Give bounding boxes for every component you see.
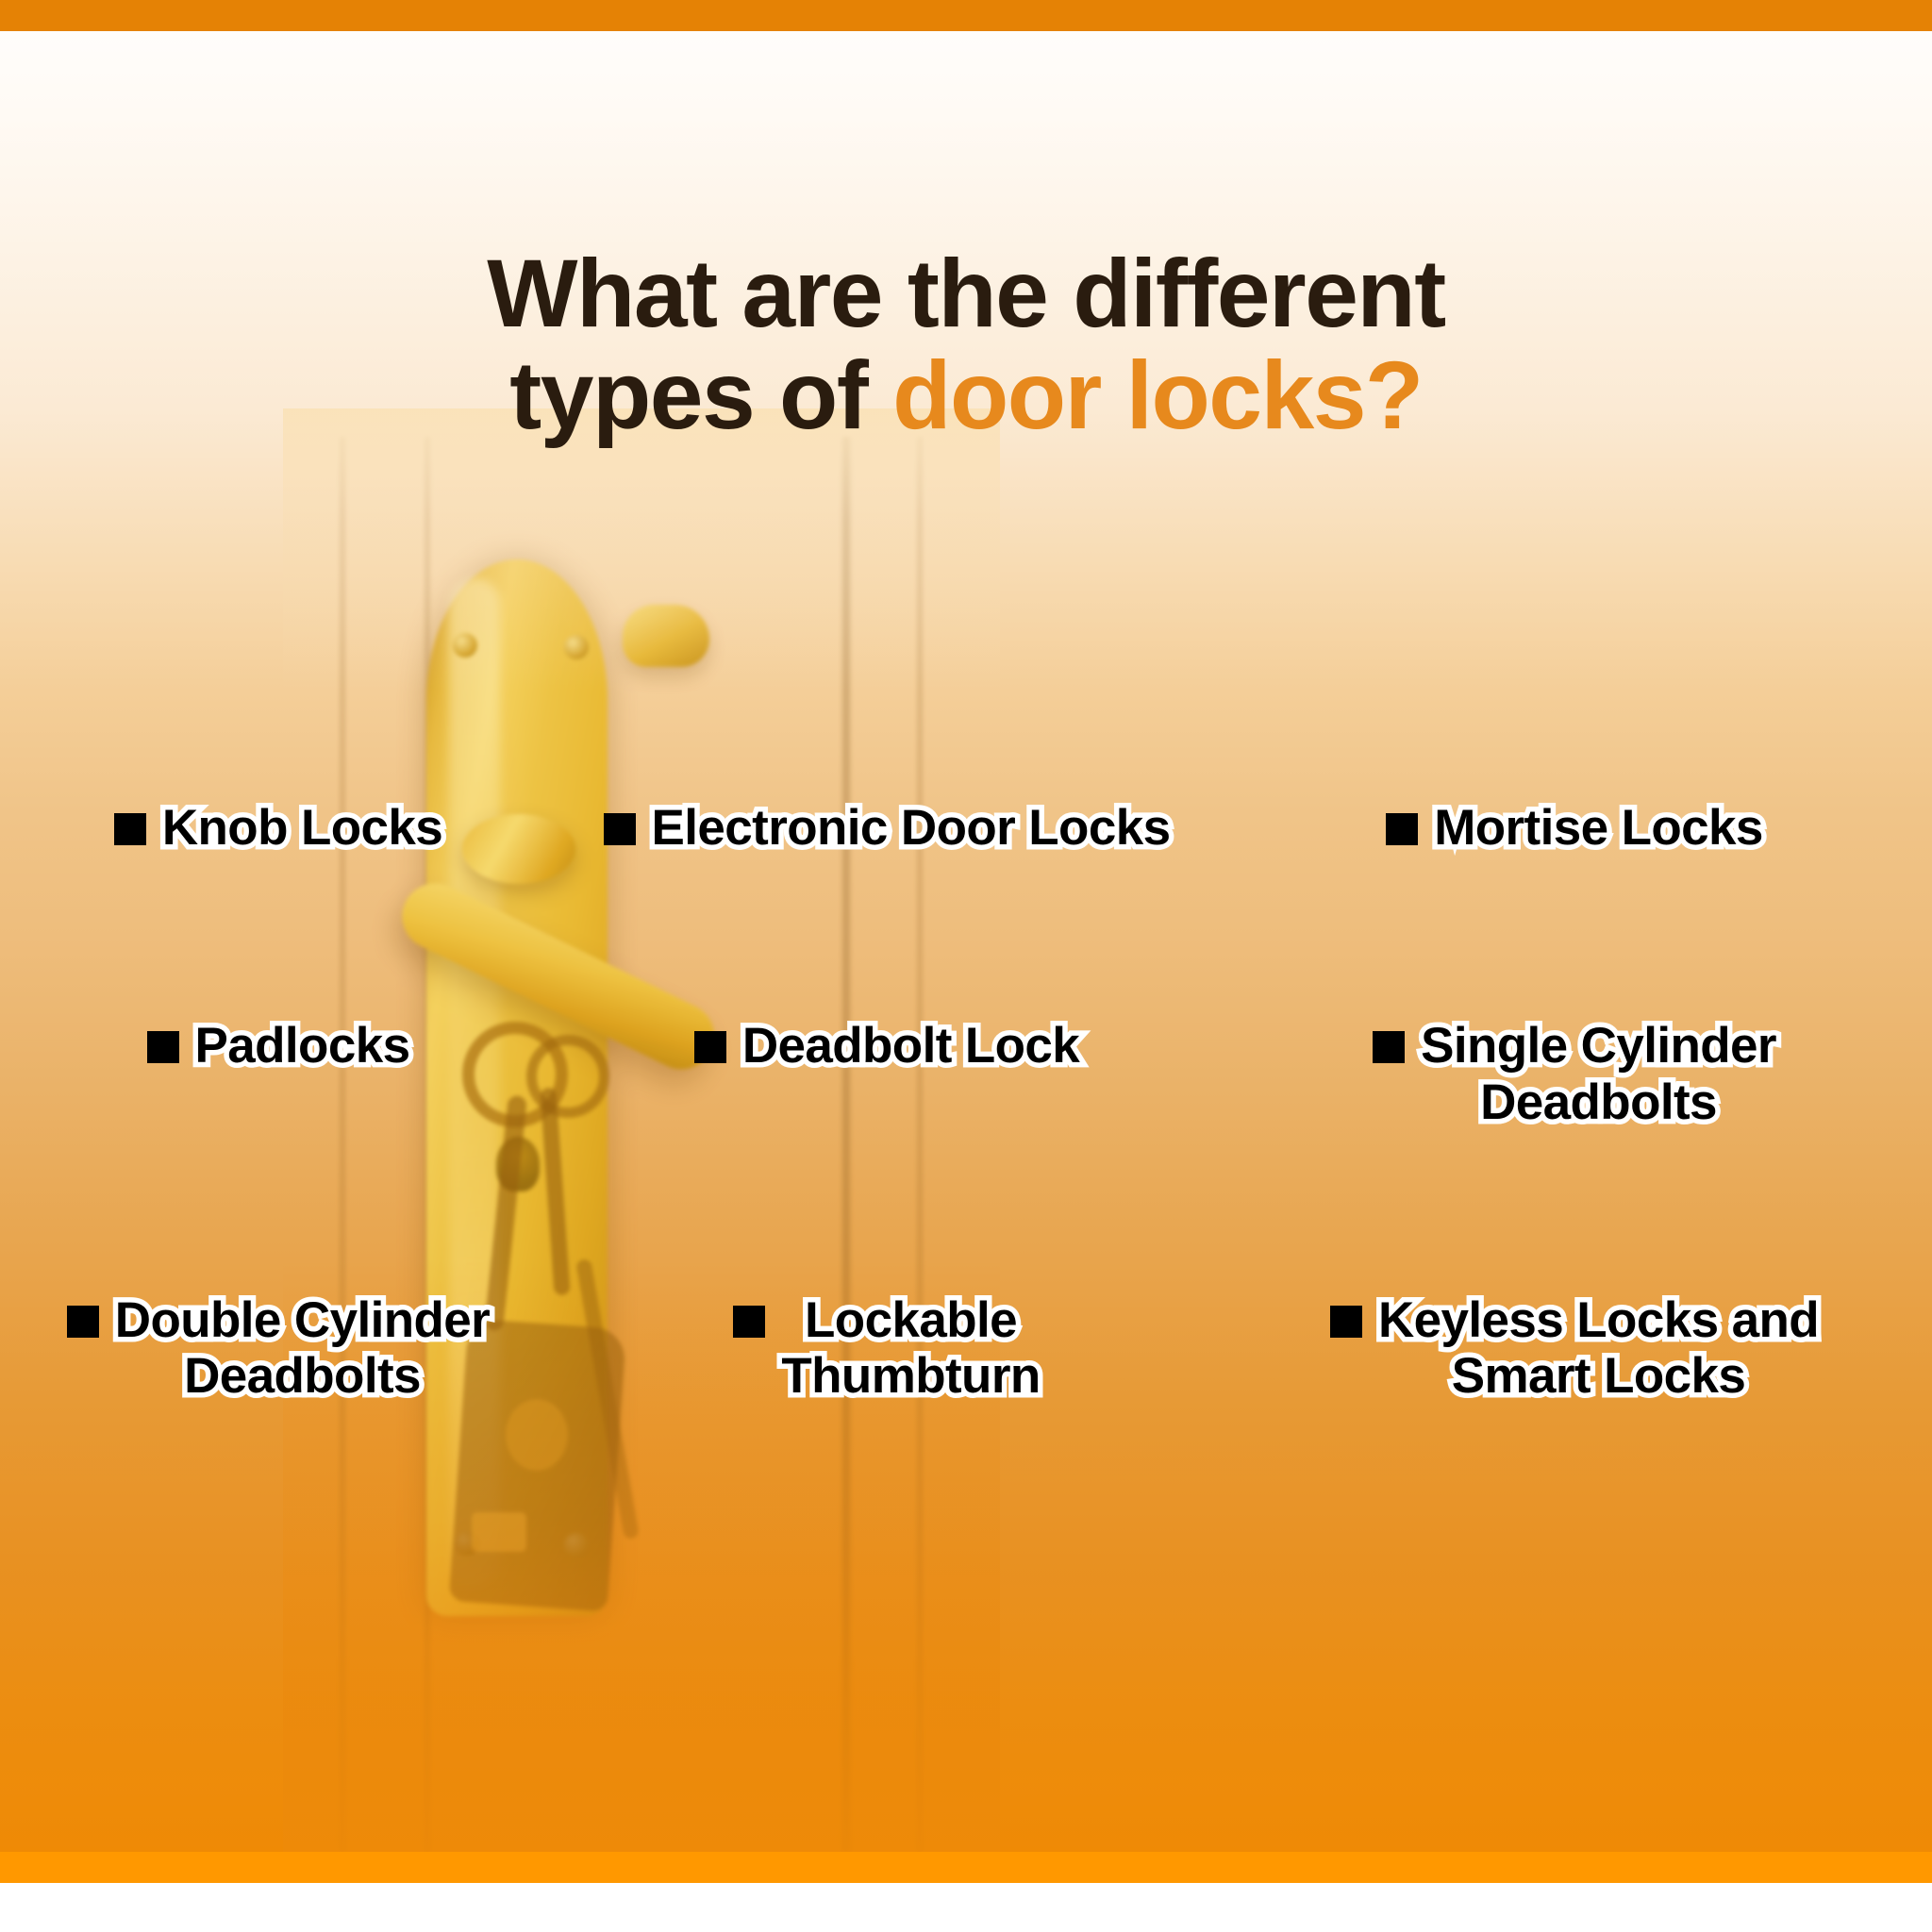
lock-type-label: Keyless Locks and Smart Locks: [1378, 1292, 1819, 1405]
lock-types-row: Double Cylinder Deadbolts Lockable Thumb…: [0, 1292, 1932, 1405]
title-line-1: What are the different: [0, 247, 1932, 341]
lever-tip: [623, 605, 709, 667]
lock-type-item[interactable]: Single Cylinder Deadbolts: [1217, 1018, 1932, 1130]
title-line-2-plain: types of: [509, 341, 892, 449]
lock-type-label: Lockable Thumbturn: [781, 1292, 1040, 1405]
square-bullet-icon: [733, 1306, 765, 1338]
bottom-accent-bar: [0, 1852, 1932, 1883]
square-bullet-icon: [1373, 1031, 1405, 1063]
lock-type-label: Padlocks: [195, 1018, 410, 1074]
lock-types-row: Padlocks Deadbolt Lock Single Cylinder D…: [0, 1018, 1932, 1130]
square-bullet-icon: [604, 813, 636, 845]
top-accent-bar: [0, 0, 1932, 31]
square-bullet-icon: [1330, 1306, 1362, 1338]
lock-type-item[interactable]: Knob Locks: [0, 800, 557, 856]
lock-type-item[interactable]: Keyless Locks and Smart Locks: [1217, 1292, 1932, 1405]
square-bullet-icon: [114, 813, 146, 845]
screw-icon: [564, 635, 589, 659]
lock-type-label: Double Cylinder Deadbolts: [115, 1292, 490, 1405]
lock-type-label: Deadbolt Lock: [742, 1018, 1079, 1074]
lock-type-item[interactable]: Lockable Thumbturn: [557, 1292, 1217, 1405]
title-line-2: types of door locks?: [0, 349, 1932, 443]
lock-type-label: Mortise Locks: [1434, 800, 1763, 856]
lock-type-item[interactable]: Padlocks: [0, 1018, 557, 1074]
lock-type-item[interactable]: Deadbolt Lock: [557, 1018, 1217, 1074]
page-title: What are the different types of door loc…: [0, 247, 1932, 443]
square-bullet-icon: [1386, 813, 1418, 845]
infographic-poster: What are the different types of door loc…: [0, 0, 1932, 1932]
square-bullet-icon: [147, 1031, 179, 1063]
lock-type-label: Knob Locks: [162, 800, 442, 856]
bottom-white-margin: [0, 1883, 1932, 1932]
title-accent-text: door locks?: [892, 341, 1423, 449]
lock-type-label: Electronic Door Locks: [652, 800, 1171, 856]
lock-types-row: Knob Locks Electronic Door Locks Mortise…: [0, 800, 1932, 856]
screw-icon: [453, 633, 477, 658]
lock-types-grid: Knob Locks Electronic Door Locks Mortise…: [0, 800, 1932, 1567]
lock-type-label: Single Cylinder Deadbolts: [1421, 1018, 1776, 1130]
square-bullet-icon: [67, 1306, 99, 1338]
lock-type-item[interactable]: Mortise Locks: [1217, 800, 1932, 856]
lock-type-item[interactable]: Double Cylinder Deadbolts: [0, 1292, 557, 1405]
lock-type-item[interactable]: Electronic Door Locks: [557, 800, 1217, 856]
square-bullet-icon: [694, 1031, 726, 1063]
